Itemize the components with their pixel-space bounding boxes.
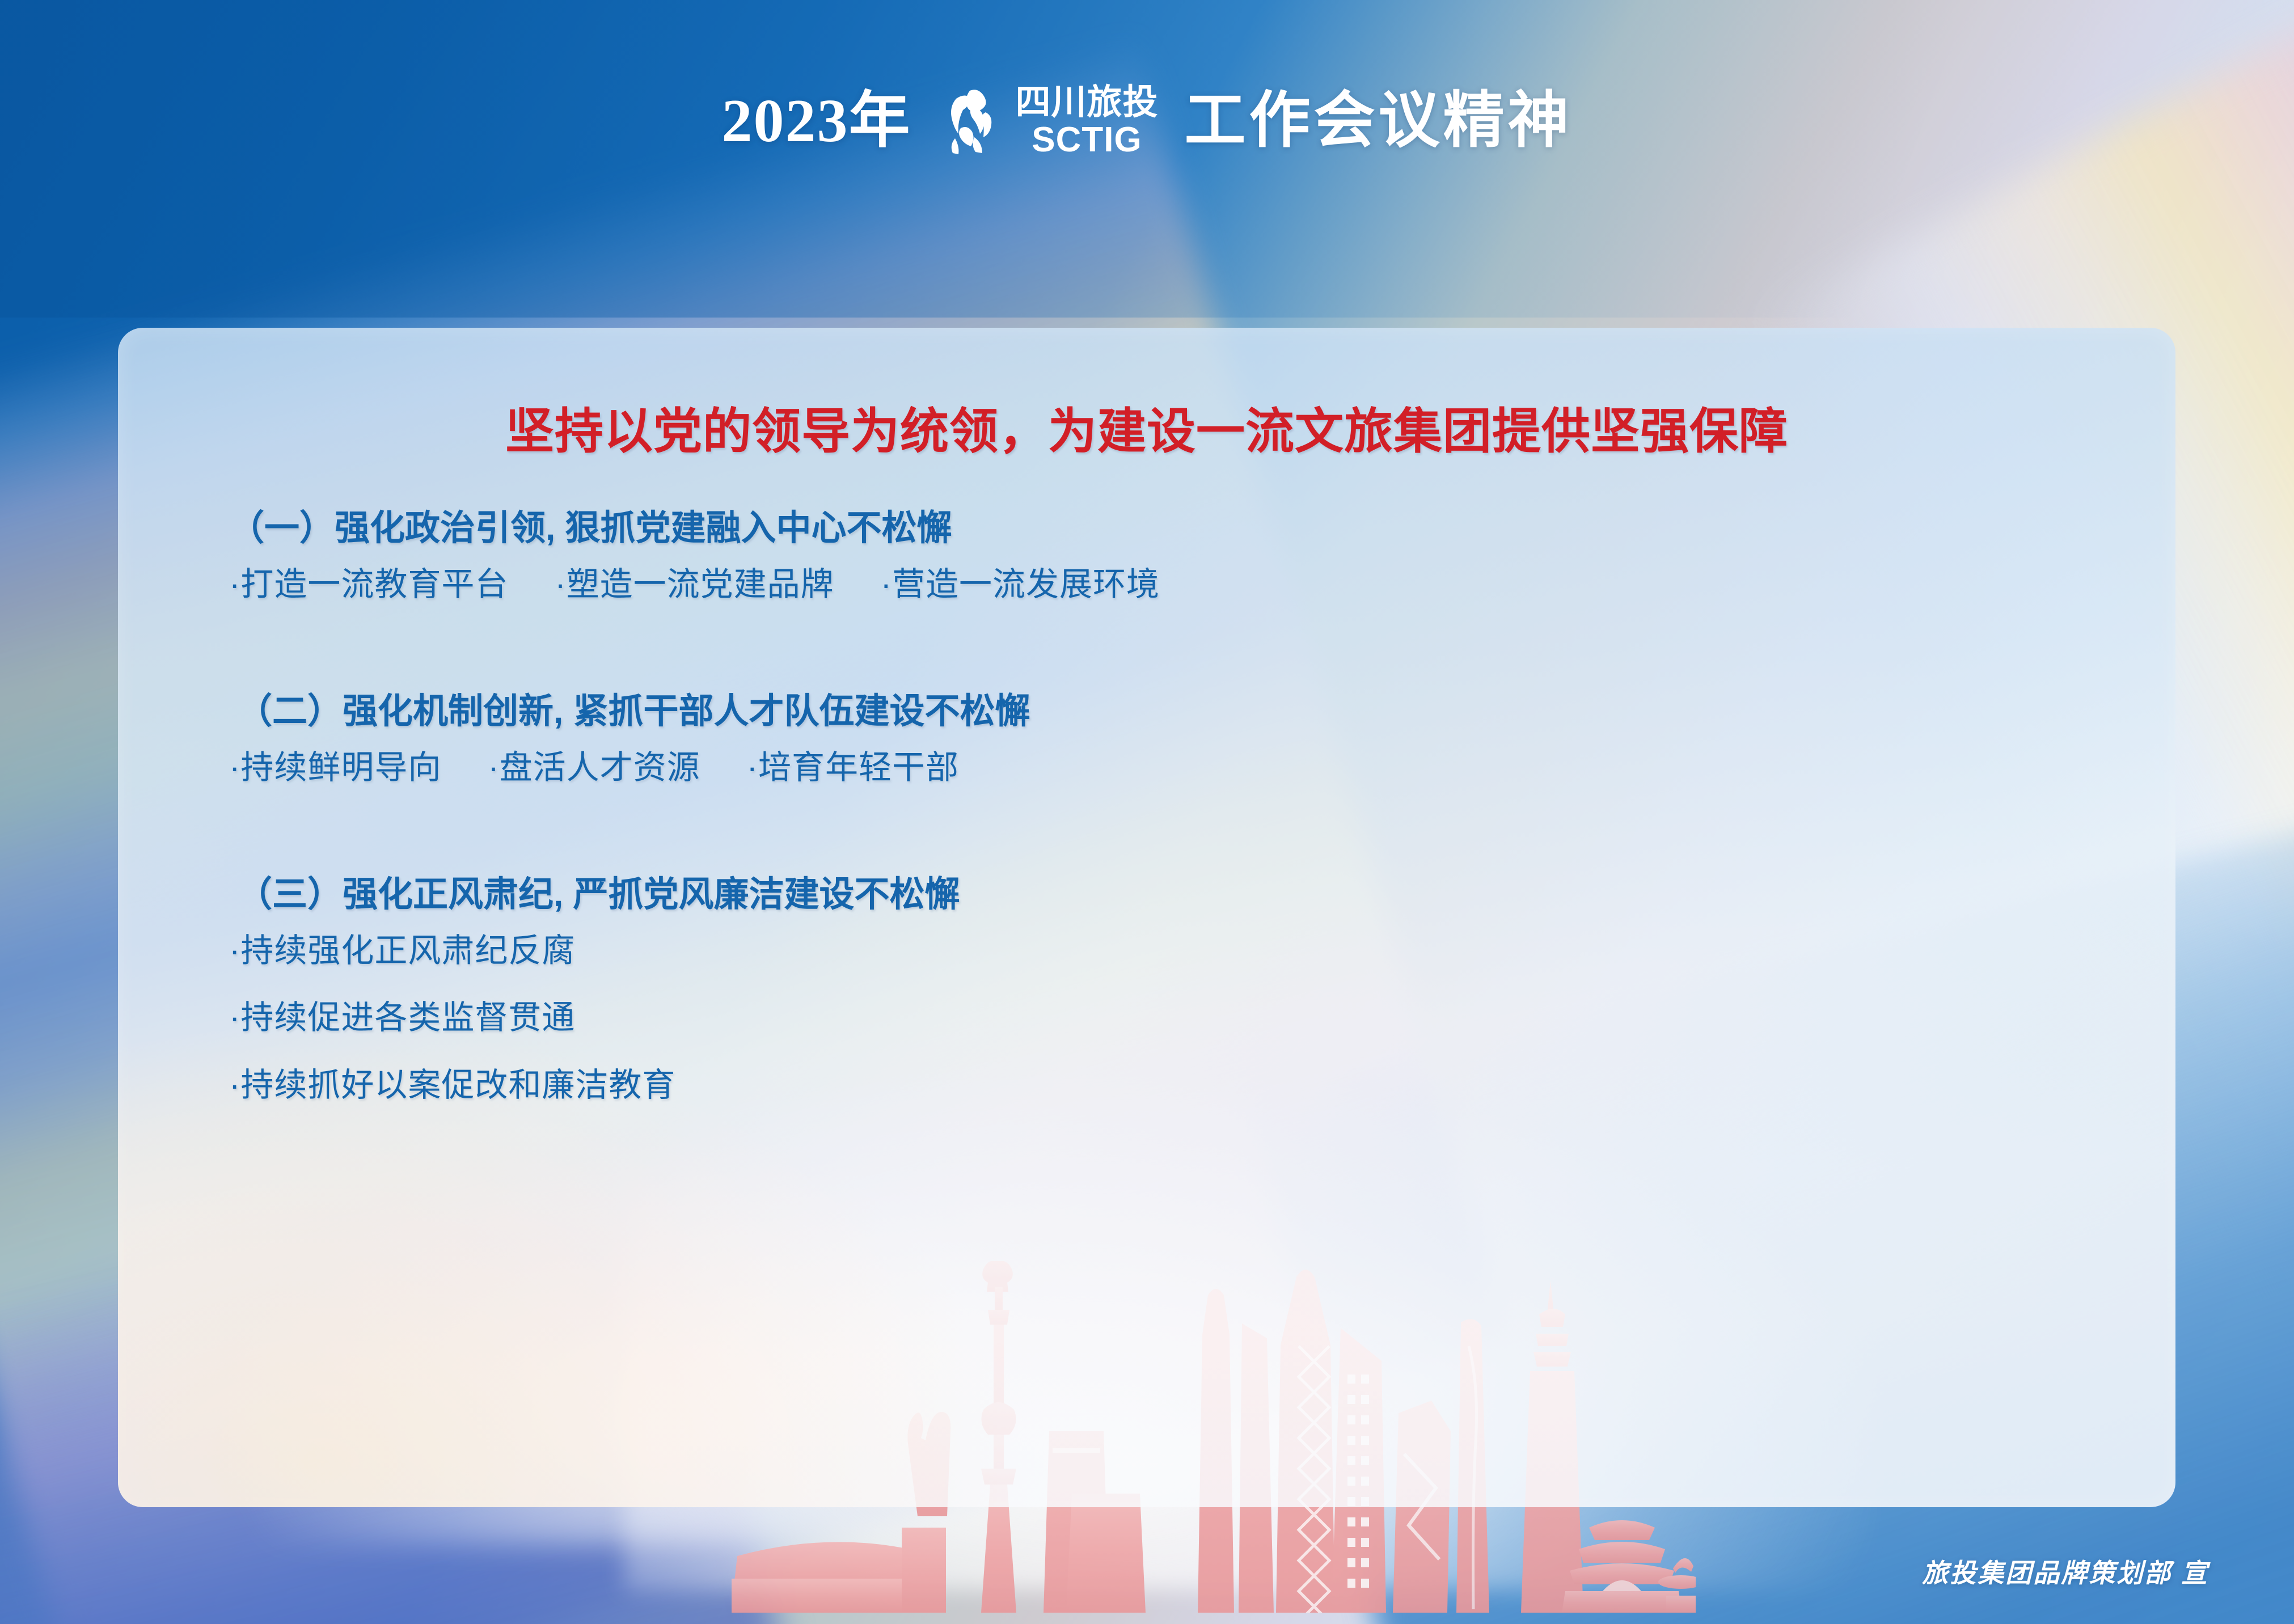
list-item: ·打造一流教育平台 <box>229 567 508 603</box>
section-group-3: （三）强化正风肃纪, 严抓党风廉洁建设不松懈 ·持续强化正风肃纪反腐 ·持续促进… <box>229 876 2107 1103</box>
list-item: ·持续强化正风肃纪反腐 <box>229 933 2107 969</box>
list-item: ·持续鲜明导向 <box>229 750 441 786</box>
section-3-heading: （三）强化正风肃纪, 严抓党风廉洁建设不松懈 <box>229 876 2107 914</box>
card-sections: （一）强化政治引领, 狠抓党建融入中心不松懈 ·打造一流教育平台 ·塑造一流党建… <box>229 509 2107 1103</box>
list-item: ·盘活人才资源 <box>488 750 700 786</box>
list-item: ·塑造一流党建品牌 <box>555 567 834 603</box>
list-item: ·持续抓好以案促改和廉洁教育 <box>229 1068 2107 1103</box>
logo-chinese-name: 四川旅投 <box>1015 85 1158 120</box>
list-item: ·持续促进各类监督贯通 <box>229 1000 2107 1036</box>
sctig-horse-logo-icon <box>937 88 1004 154</box>
section-1-heading: （一）强化政治引领, 狠抓党建融入中心不松懈 <box>229 509 2107 548</box>
footer-credit: 旅投集团品牌策划部 宣 <box>1922 1553 2209 1590</box>
background-top-shade <box>0 0 2294 318</box>
header-year: 2023年 <box>721 91 911 152</box>
list-item: ·培育年轻干部 <box>747 750 959 786</box>
header-title: 工作会议精神 <box>1185 91 1573 152</box>
section-1-bullets: ·打造一流教育平台 ·塑造一流党建品牌 ·营造一流发展环境 <box>229 567 2107 603</box>
section-3-bullets: ·持续强化正风肃纪反腐 ·持续促进各类监督贯通 ·持续抓好以案促改和廉洁教育 <box>229 933 2107 1103</box>
content-card: 坚持以党的领导为统领，为建设一流文旅集团提供坚强保障 （一）强化政治引领, 狠抓… <box>118 328 2175 1507</box>
sctig-logo: 四川旅投 SCTIG <box>937 85 1158 158</box>
logo-english-name: SCTIG <box>1032 122 1142 158</box>
card-red-title: 坚持以党的领导为统领，为建设一流文旅集团提供坚强保障 <box>118 407 2175 456</box>
section-group-2: （二）强化机制创新, 紧抓干部人才队伍建设不松懈 ·持续鲜明导向 ·盘活人才资源… <box>229 692 2107 786</box>
section-group-1: （一）强化政治引领, 狠抓党建融入中心不松懈 ·打造一流教育平台 ·塑造一流党建… <box>229 509 2107 603</box>
page-header: 2023年 四川旅投 SCTIG 工作会议精神 <box>0 85 2294 158</box>
section-2-bullets: ·持续鲜明导向 ·盘活人才资源 ·培育年轻干部 <box>229 750 2107 786</box>
section-2-heading: （二）强化机制创新, 紧抓干部人才队伍建设不松懈 <box>229 692 2107 731</box>
list-item: ·营造一流发展环境 <box>881 567 1160 603</box>
